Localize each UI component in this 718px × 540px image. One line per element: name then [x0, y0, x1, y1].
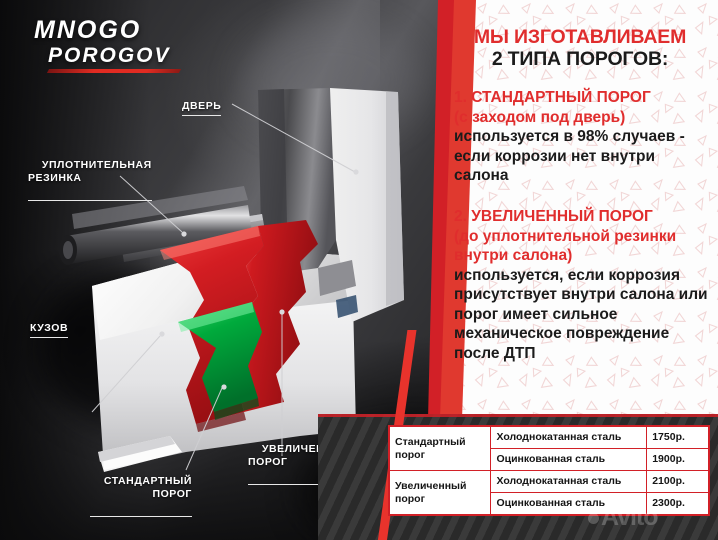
info-panel-content: МЫ ИЗГОТАВЛИВАЕМ 2 ТИПА ПОРОГОВ: 1. СТАН… — [428, 0, 718, 420]
callout-seal-label: УПЛОТНИТЕЛЬНАЯ РЕЗИНКА — [28, 159, 152, 184]
callout-door: ДВЕРЬ — [182, 100, 221, 116]
headline-line1: МЫ ИЗГОТАВЛИВАЕМ — [450, 26, 710, 48]
price-material: Холоднокатанная сталь — [491, 426, 647, 449]
price-material: Холоднокатанная сталь — [491, 471, 647, 493]
callout-underline — [182, 115, 221, 116]
brand-logo-stripe — [47, 69, 181, 73]
extended-subtitle: (до уплотнительной резинки внутри салона… — [454, 227, 712, 266]
brand-logo-line1: MNOGO — [34, 18, 180, 43]
price-category-standard: Стандартный порог — [389, 426, 491, 471]
price-material: Оцинкованная сталь — [491, 449, 647, 471]
standard-subtitle: (с заходом под дверь) — [454, 108, 712, 128]
price-value: 1750р. — [647, 426, 709, 449]
info-panel: МЫ ИЗГОТАВЛИВАЕМ 2 ТИПА ПОРОГОВ: 1. СТАН… — [428, 0, 718, 420]
brand-logo: MNOGO POROGOV — [34, 18, 180, 73]
price-value: 1900р. — [647, 449, 709, 471]
price-value: 2100р. — [647, 471, 709, 493]
callout-standard-sill: СТАНДАРТНЫЙ ПОРОГ — [90, 462, 192, 540]
table-row: Увеличенный порог Холоднокатанная сталь … — [389, 471, 709, 493]
callout-body: КУЗОВ — [30, 322, 68, 338]
extended-body: используется, если коррозия присутствует… — [454, 266, 712, 364]
callout-standard-sill-label: СТАНДАРТНЫЙ ПОРОГ — [104, 475, 192, 500]
brand-logo-line2: POROGOV — [48, 45, 180, 66]
headline-line2: 2 ТИПА ПОРОГОВ: — [450, 48, 710, 70]
callout-body-label: КУЗОВ — [30, 322, 68, 334]
callout-underline — [28, 200, 152, 201]
callout-door-label: ДВЕРЬ — [182, 100, 221, 112]
sill-type-block-standard: 1. СТАНДАРТНЫЙ ПОРОГ (с заходом под двер… — [454, 88, 712, 186]
callout-underline — [90, 516, 192, 517]
standard-title: 1. СТАНДАРТНЫЙ ПОРОГ — [454, 88, 712, 108]
price-material: Оцинкованная сталь — [491, 493, 647, 516]
headline: МЫ ИЗГОТАВЛИВАЕМ 2 ТИПА ПОРОГОВ: — [450, 26, 710, 70]
price-table: Стандартный порог Холоднокатанная сталь … — [388, 425, 710, 516]
promo-image: ДВЕРЬ УПЛОТНИТЕЛЬНАЯ РЕЗИНКА КУЗОВ СТАНД… — [0, 0, 718, 540]
price-category-extended: Увеличенный порог — [389, 471, 491, 516]
sill-type-block-extended: 2. УВЕЛИЧЕННЫЙ ПОРОГ (до уплотнительной … — [454, 207, 712, 363]
callout-underline — [30, 337, 68, 338]
price-value: 2300р. — [647, 493, 709, 516]
standard-body: используется в 98% случаев - если корроз… — [454, 127, 712, 186]
table-row: Стандартный порог Холоднокатанная сталь … — [389, 426, 709, 449]
callout-seal: УПЛОТНИТЕЛЬНАЯ РЕЗИНКА — [28, 146, 152, 227]
extended-title: 2. УВЕЛИЧЕННЫЙ ПОРОГ — [454, 207, 712, 227]
